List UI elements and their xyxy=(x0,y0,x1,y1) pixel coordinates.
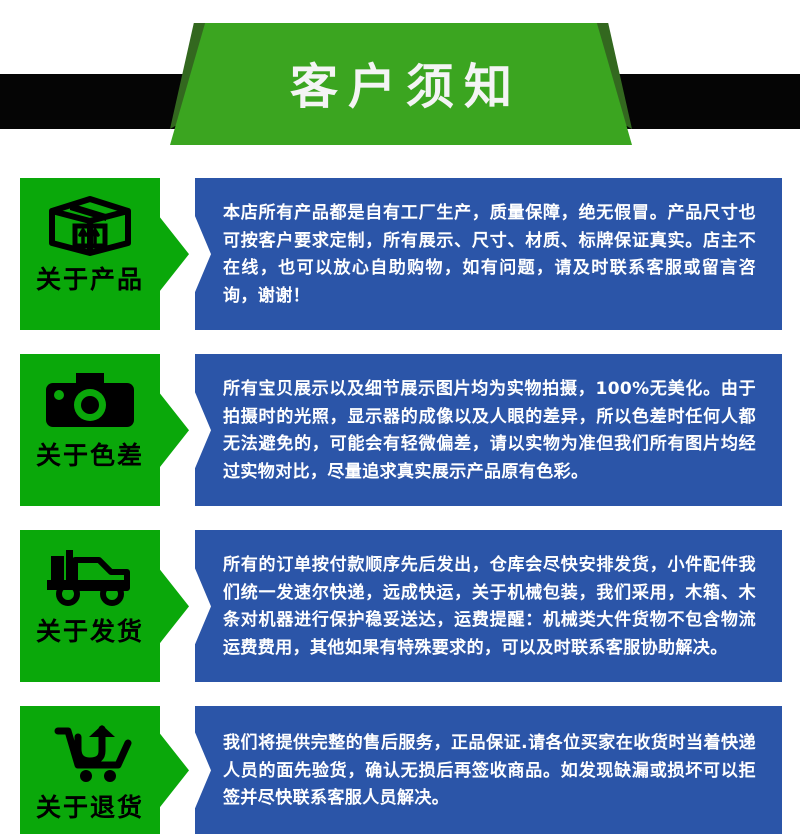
notice-row-product: 关于产品 本店所有产品都是自有工厂生产，质量保障，绝无假冒。产品尺寸也可按客户要… xyxy=(0,178,800,330)
notice-row-shipping: 关于发货 所有的订单按付款顺序先后发出，仓库会尽快安排发货，小件配件我们统一发速… xyxy=(0,530,800,682)
forklift-truck-icon xyxy=(38,544,142,610)
text-panel-returns: 我们将提供完整的售后服务，正品保证.请各位买家在收货时当着快递人员的面先验货，确… xyxy=(195,706,782,834)
panel-text-shipping: 所有的订单按付款顺序先后发出，仓库会尽快安排发货，小件配件我们统一发速尔快递，远… xyxy=(223,552,756,662)
header-ribbon: 客户须知 xyxy=(170,23,632,145)
icon-card-label-returns: 关于退货 xyxy=(36,788,144,824)
panel-text-returns: 我们将提供完整的售后服务，正品保证.请各位买家在收货时当着快递人员的面先验货，确… xyxy=(223,730,756,813)
notice-row-returns: 关于退货 我们将提供完整的售后服务，正品保证.请各位买家在收货时当着快递人员的面… xyxy=(0,706,800,834)
notice-row-color: 关于色差 所有宝贝展示以及细节展示图片均为实物拍摄，100%无美化。由于拍摄时的… xyxy=(0,354,800,506)
notice-sections: 关于产品 本店所有产品都是自有工厂生产，质量保障，绝无假冒。产品尺寸也可按客户要… xyxy=(0,178,800,834)
icon-card-label-shipping: 关于发货 xyxy=(36,612,144,648)
panel-text-product: 本店所有产品都是自有工厂生产，质量保障，绝无假冒。产品尺寸也可按客户要求定制，所… xyxy=(223,200,756,310)
return-cart-icon xyxy=(38,720,142,786)
icon-card-returns: 关于退货 xyxy=(20,706,160,834)
package-box-icon xyxy=(38,192,142,258)
icon-card-shipping: 关于发货 xyxy=(20,530,160,682)
icon-card-product: 关于产品 xyxy=(20,178,160,330)
camera-icon xyxy=(38,368,142,434)
icon-card-color: 关于色差 xyxy=(20,354,160,506)
panel-text-color: 所有宝贝展示以及细节展示图片均为实物拍摄，100%无美化。由于拍摄时的光照，显示… xyxy=(223,376,756,486)
page-header: 客户须知 xyxy=(0,0,800,160)
text-panel-product: 本店所有产品都是自有工厂生产，质量保障，绝无假冒。产品尺寸也可按客户要求定制，所… xyxy=(195,178,782,330)
icon-card-label-product: 关于产品 xyxy=(36,260,144,296)
icon-card-label-color: 关于色差 xyxy=(36,436,144,472)
page-title: 客户须知 xyxy=(280,57,522,111)
text-panel-shipping: 所有的订单按付款顺序先后发出，仓库会尽快安排发货，小件配件我们统一发速尔快递，远… xyxy=(195,530,782,682)
text-panel-color: 所有宝贝展示以及细节展示图片均为实物拍摄，100%无美化。由于拍摄时的光照，显示… xyxy=(195,354,782,506)
